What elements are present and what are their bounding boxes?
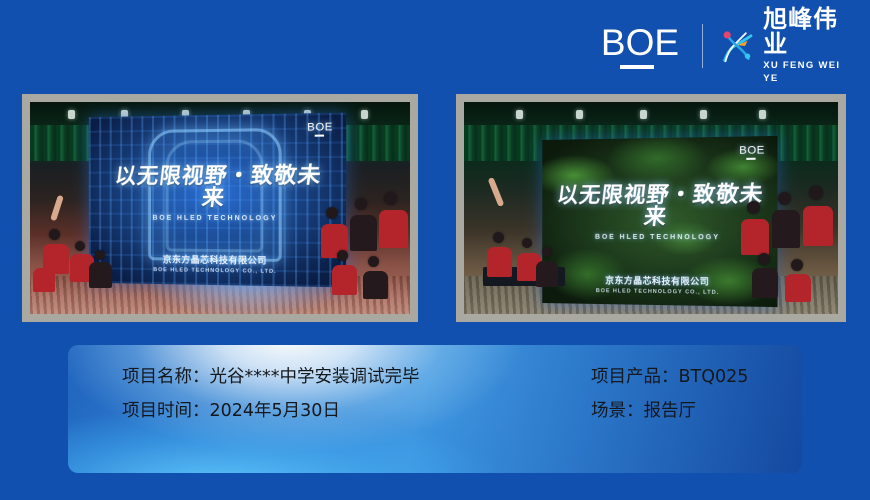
boe-logo: BOE [592,20,688,72]
truss-light [361,110,368,119]
led-company-block: 京东方晶芯科技有限公司 BOE HLED TECHNOLOGY CO., LTD… [89,252,347,276]
led-brand-text: BOE [307,121,333,134]
audience-body [752,268,778,298]
audience-head [791,259,803,271]
led-company-cn: 京东方晶芯科技有限公司 [89,252,347,268]
audience-body [89,262,112,288]
crowd-right [741,161,838,314]
truss-light [576,110,583,119]
audience-head [809,186,823,200]
led-brand-boe: BOE [307,121,333,136]
photo-right-image: BOE 以无限视野・致敬未来 BOE HLED TECHNOLOGY 京东方晶芯… [464,102,838,314]
audience-body [33,268,55,292]
project-info-grid: 项目名称：光谷****中学安装调试完毕 项目产品：BTQ025 项目时间：202… [68,345,802,473]
info-value: 光谷****中学安装调试完毕 [210,367,420,387]
info-row-project-time: 项目时间：2024年5月30日 [122,403,591,421]
project-info-panel: 项目名称：光谷****中学安装调试完毕 项目产品：BTQ025 项目时间：202… [68,345,802,473]
led-display-wall: BOE 以无限视野・致敬未来 BOE HLED TECHNOLOGY 京东方晶芯… [89,112,347,286]
header-logo-bar: BOE 旭峰伟业 XU FENG WEI YE [592,20,848,72]
audience-body [363,271,388,299]
truss-light [759,110,766,119]
audience-head [493,232,504,243]
audience-body [772,210,800,248]
info-label: 场景： [591,401,644,421]
audience-head [542,247,552,257]
audience-head [758,253,770,265]
audience-head [778,192,791,205]
audience-head [522,238,532,248]
audience-body [803,206,833,246]
audience-body [350,215,377,251]
info-label: 项目产品： [591,367,679,387]
truss-light [68,110,75,119]
audience-body [379,210,408,248]
partner-name-cn: 旭峰伟业 [763,7,848,57]
xufeng-figure-mark-icon [717,25,754,67]
crowd-left [464,161,561,314]
audience-head [355,198,367,210]
info-row-project-name: 项目名称：光谷****中学安装调试完毕 [122,369,591,387]
info-label: 项目时间： [122,401,210,421]
info-row-scene: 场景：报告厅 [591,403,802,421]
info-value: 2024年5月30日 [210,401,340,421]
info-value: BTQ025 [679,367,749,387]
audience-body [741,219,769,255]
boe-wordmark-text: BOE [601,24,679,61]
partner-name-en: XU FENG WEI YE [763,59,848,86]
led-brand-text: BOE [739,145,765,158]
led-arch-inner [166,140,264,253]
truss-light [640,110,647,119]
partner-logo: 旭峰伟业 XU FENG WEI YE [717,7,848,86]
raised-arm [51,195,65,222]
audience-head [49,229,60,240]
crowd-left [30,161,117,314]
audience-head [747,201,760,214]
info-row-project-product: 项目产品：BTQ025 [591,369,802,387]
logo-divider [702,24,703,68]
audience-body [332,265,357,295]
truss-light [516,110,523,119]
audience-body [785,274,811,302]
audience-head [368,256,379,267]
led-brand-boe: BOE [739,145,765,160]
partner-name-block: 旭峰伟业 XU FENG WEI YE [763,7,848,86]
boe-underline-icon [746,158,755,160]
photo-right: BOE 以无限视野・致敬未来 BOE HLED TECHNOLOGY 京东方晶芯… [456,94,846,322]
audience-head [326,207,338,219]
audience-head [337,250,348,261]
slide-root: BOE 旭峰伟业 XU FENG WEI YE [0,0,870,500]
info-value: 报告厅 [644,401,697,421]
boe-underline-icon [315,135,324,137]
raised-arm [488,177,505,207]
info-label: 项目名称： [122,367,210,387]
audience-head [75,241,85,251]
truss-light [700,110,707,119]
photo-left-image: BOE 以无限视野・致敬未来 BOE HLED TECHNOLOGY 京东方晶芯… [30,102,410,314]
photo-left: BOE 以无限视野・致敬未来 BOE HLED TECHNOLOGY 京东方晶芯… [22,94,418,322]
boe-underline-icon [620,65,654,69]
audience-head [95,250,105,260]
audience-head [384,192,397,205]
audience-body [487,247,512,277]
crowd-right [319,161,410,314]
audience-body [536,261,558,287]
